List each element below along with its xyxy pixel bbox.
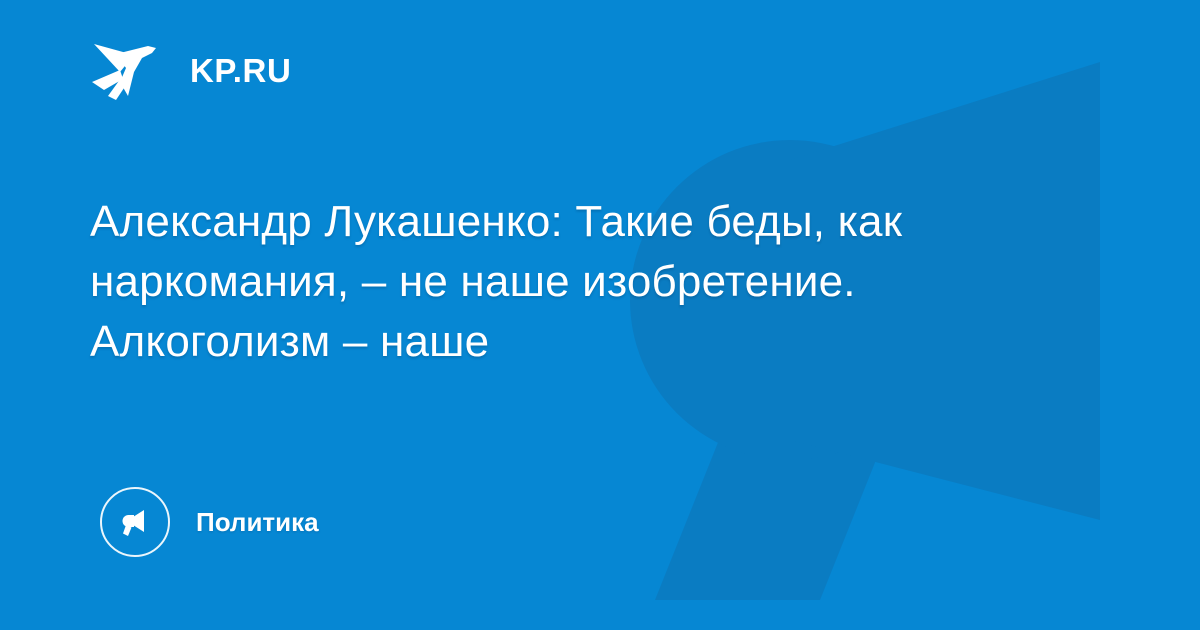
rubric-label: Политика <box>196 509 319 535</box>
social-share-card: KP.RU Александр Лукашенко: Такие беды, к… <box>0 0 1200 630</box>
megaphone-icon <box>100 487 170 557</box>
brand-name: KP.RU <box>190 54 291 87</box>
swallow-bird-logo-icon <box>90 38 168 102</box>
page-title: Александр Лукашенко: Такие беды, как нар… <box>90 192 1080 372</box>
brand-logo[interactable]: KP.RU <box>90 38 291 102</box>
rubric-badge-group[interactable]: Политика <box>100 487 319 557</box>
